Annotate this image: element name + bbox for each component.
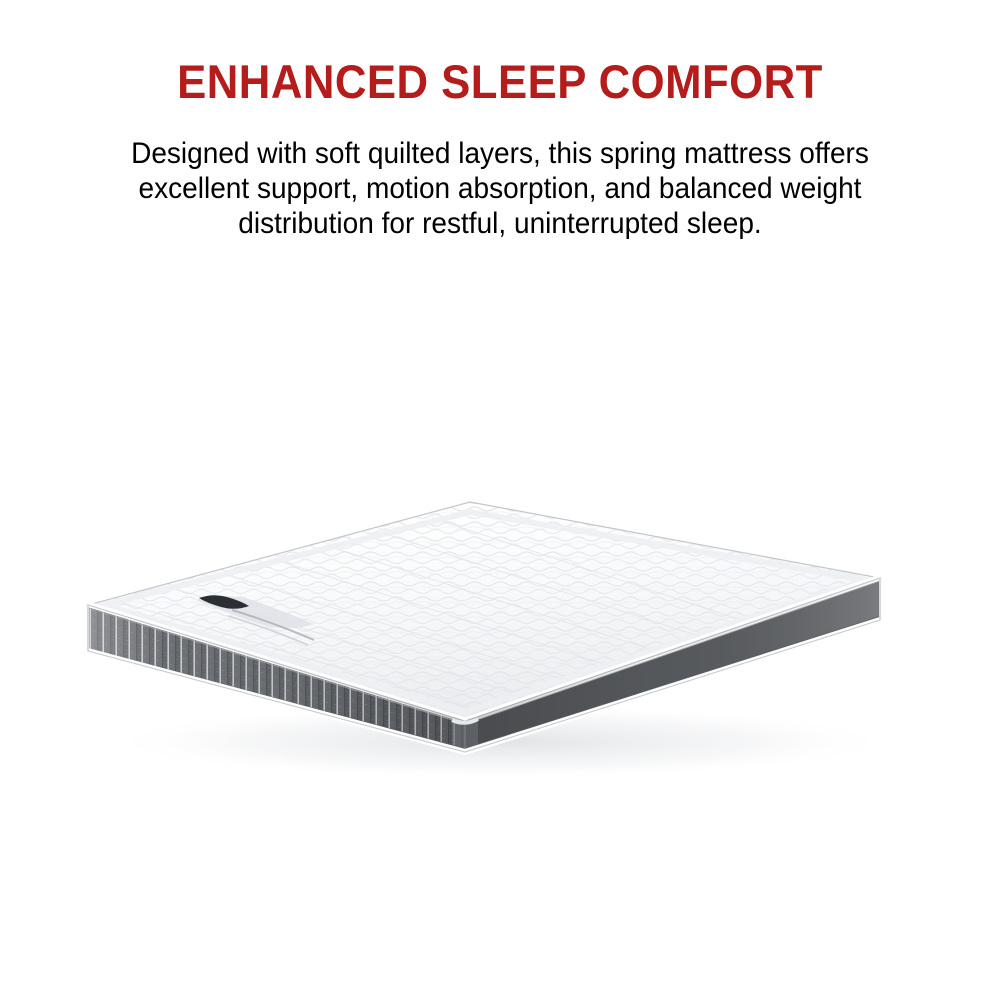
description-line-3: distribution for restful, uninterrupted … [82, 206, 918, 241]
copy-block: ENHANCED SLEEP COMFORT Designed with sof… [0, 56, 1000, 241]
product-banner: ENHANCED SLEEP COMFORT Designed with sof… [0, 0, 1000, 1000]
product-image-area [0, 430, 1000, 850]
description-paragraph: Designed with soft quilted layers, this … [82, 136, 918, 241]
description-line-1: Designed with soft quilted layers, this … [82, 136, 918, 171]
mattress-illustration [0, 430, 1000, 850]
page-title: ENHANCED SLEEP COMFORT [35, 56, 965, 108]
description-line-2: excellent support, motion absorption, an… [82, 171, 918, 206]
